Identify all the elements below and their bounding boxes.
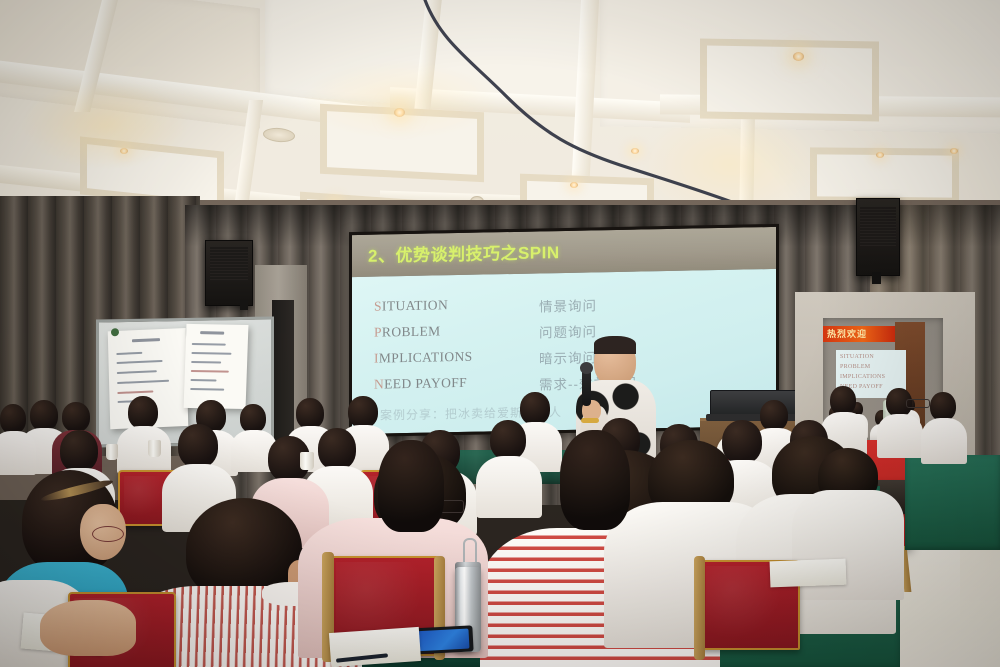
slide-row-english: NEED PAYOFF (374, 375, 467, 393)
banquet-table-back-right (905, 455, 1000, 550)
wrist-bracelet (581, 418, 599, 423)
flipchart-page-right (184, 324, 249, 409)
downlight-icon (631, 148, 639, 154)
slide-row-initial: P (374, 324, 382, 339)
presenter-hair (594, 336, 636, 354)
conference-room-photo: 2、优势谈判技巧之SPIN SITUATION 情景询问 PROBLEM 问题询… (0, 0, 1000, 667)
slide-row-initial: N (374, 376, 384, 391)
downlight-icon (876, 152, 884, 158)
wall-speaker-left (205, 240, 253, 306)
wall-speaker-right (856, 198, 900, 276)
attendee-hair (560, 430, 630, 530)
eyeglasses-icon (906, 399, 930, 408)
attendee-hair (378, 440, 444, 532)
downlight-icon (120, 148, 128, 154)
mirror-red-banner: 热烈欢迎 (823, 326, 895, 342)
paper-cup (300, 452, 314, 470)
microphone-head-icon (580, 362, 593, 374)
slide-row-english: IMPLICATIONS (374, 349, 473, 367)
mirror-slide-line: PROBLEM (840, 364, 870, 370)
slide-title: 2、优势谈判技巧之SPIN (368, 238, 560, 267)
mirror-banner-text: 热烈欢迎 (823, 326, 895, 342)
chair-frame (694, 556, 705, 660)
handout-paper (770, 559, 847, 588)
mirror-slide-line: IMPLICATIONS (840, 374, 885, 380)
downlight-icon (793, 52, 804, 61)
slide-row-english: SITUATION (374, 297, 448, 314)
smartphone-screen[interactable] (413, 629, 470, 652)
downlight-icon (950, 148, 958, 154)
paper-cup (148, 440, 161, 457)
slide-row-initial: S (374, 298, 382, 313)
attendee-hand (40, 600, 136, 656)
slide-row-chinese: 情景询问 (539, 294, 597, 315)
slide-row-english: PROBLEM (374, 323, 441, 340)
mirror-slide-line: SITUATION (840, 354, 874, 360)
downlight-icon (394, 108, 405, 117)
slide-row-chinese: 问题询问 (539, 320, 597, 341)
paper-cup (106, 444, 118, 460)
eyeglasses-icon (92, 526, 124, 542)
downlight-icon (570, 182, 578, 188)
